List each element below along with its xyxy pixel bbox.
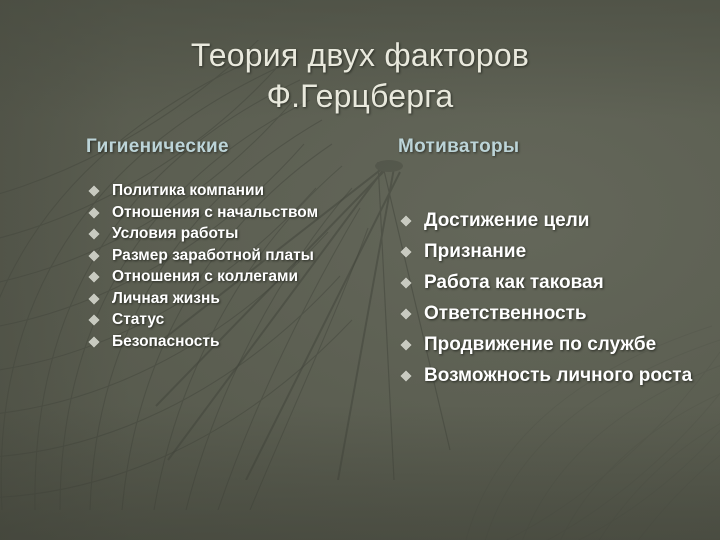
diamond-bullet-icon	[88, 314, 99, 325]
diamond-bullet-icon	[88, 228, 99, 239]
list-item: Безопасность	[86, 333, 386, 351]
page-title: Теория двух факторов Ф.Герцберга	[60, 35, 660, 117]
list-item-label: Отношения с начальством	[112, 204, 318, 221]
motivators-list: Достижение цели Признание Работа как так…	[398, 210, 698, 387]
diamond-bullet-icon	[88, 271, 99, 282]
list-item-label: Продвижение по службе	[424, 334, 656, 355]
diamond-bullet-icon	[88, 185, 99, 196]
list-item: Признание	[398, 241, 698, 263]
content-columns: Гигиенические Политика компании Отношени…	[0, 136, 720, 536]
diamond-bullet-icon	[400, 215, 411, 226]
list-item-label: Статус	[112, 311, 164, 328]
diamond-bullet-icon	[400, 308, 411, 319]
list-item: Достижение цели	[398, 210, 698, 232]
diamond-bullet-icon	[88, 207, 99, 218]
diamond-bullet-icon	[400, 370, 411, 381]
list-item: Возможность личного роста	[398, 365, 698, 387]
list-item-label: Безопасность	[112, 333, 220, 350]
diamond-bullet-icon	[88, 293, 99, 304]
list-item-label: Работа как таковая	[424, 272, 604, 293]
diamond-bullet-icon	[400, 339, 411, 350]
list-item: Статус	[86, 311, 386, 329]
list-item: Отношения с начальством	[86, 204, 386, 222]
title-line-2: Ф.Герцберга	[60, 76, 660, 117]
list-item-label: Размер заработной платы	[112, 247, 314, 264]
list-item: Размер заработной платы	[86, 247, 386, 265]
list-item-label: Достижение цели	[424, 210, 589, 231]
diamond-bullet-icon	[400, 277, 411, 288]
list-item-label: Ответственность	[424, 303, 587, 324]
column-motivators: Мотиваторы Достижение цели Признание Раб…	[398, 136, 698, 396]
list-item-label: Признание	[424, 241, 526, 262]
list-item-label: Отношения с коллегами	[112, 268, 298, 285]
diamond-bullet-icon	[88, 250, 99, 261]
list-item: Ответственность	[398, 303, 698, 325]
list-item: Личная жизнь	[86, 290, 386, 308]
list-item: Политика компании	[86, 182, 386, 200]
list-item-label: Личная жизнь	[112, 290, 220, 307]
hygiene-factors-list: Политика компании Отношения с начальство…	[86, 182, 386, 350]
column-heading-hygiene: Гигиенические	[86, 136, 386, 160]
list-item-label: Условия работы	[112, 225, 238, 242]
column-heading-motivators: Мотиваторы	[398, 136, 698, 160]
title-line-1: Теория двух факторов	[191, 37, 529, 73]
list-item: Отношения с коллегами	[86, 268, 386, 286]
diamond-bullet-icon	[88, 336, 99, 347]
list-item: Продвижение по службе	[398, 334, 698, 356]
diamond-bullet-icon	[400, 246, 411, 257]
list-item: Условия работы	[86, 225, 386, 243]
list-item-label: Политика компании	[112, 182, 264, 199]
list-item-label: Возможность личного роста	[424, 365, 692, 386]
slide-canvas: Теория двух факторов Ф.Герцберга Гигиени…	[0, 0, 720, 540]
list-item: Работа как таковая	[398, 272, 698, 294]
column-hygiene-factors: Гигиенические Политика компании Отношени…	[86, 136, 386, 354]
